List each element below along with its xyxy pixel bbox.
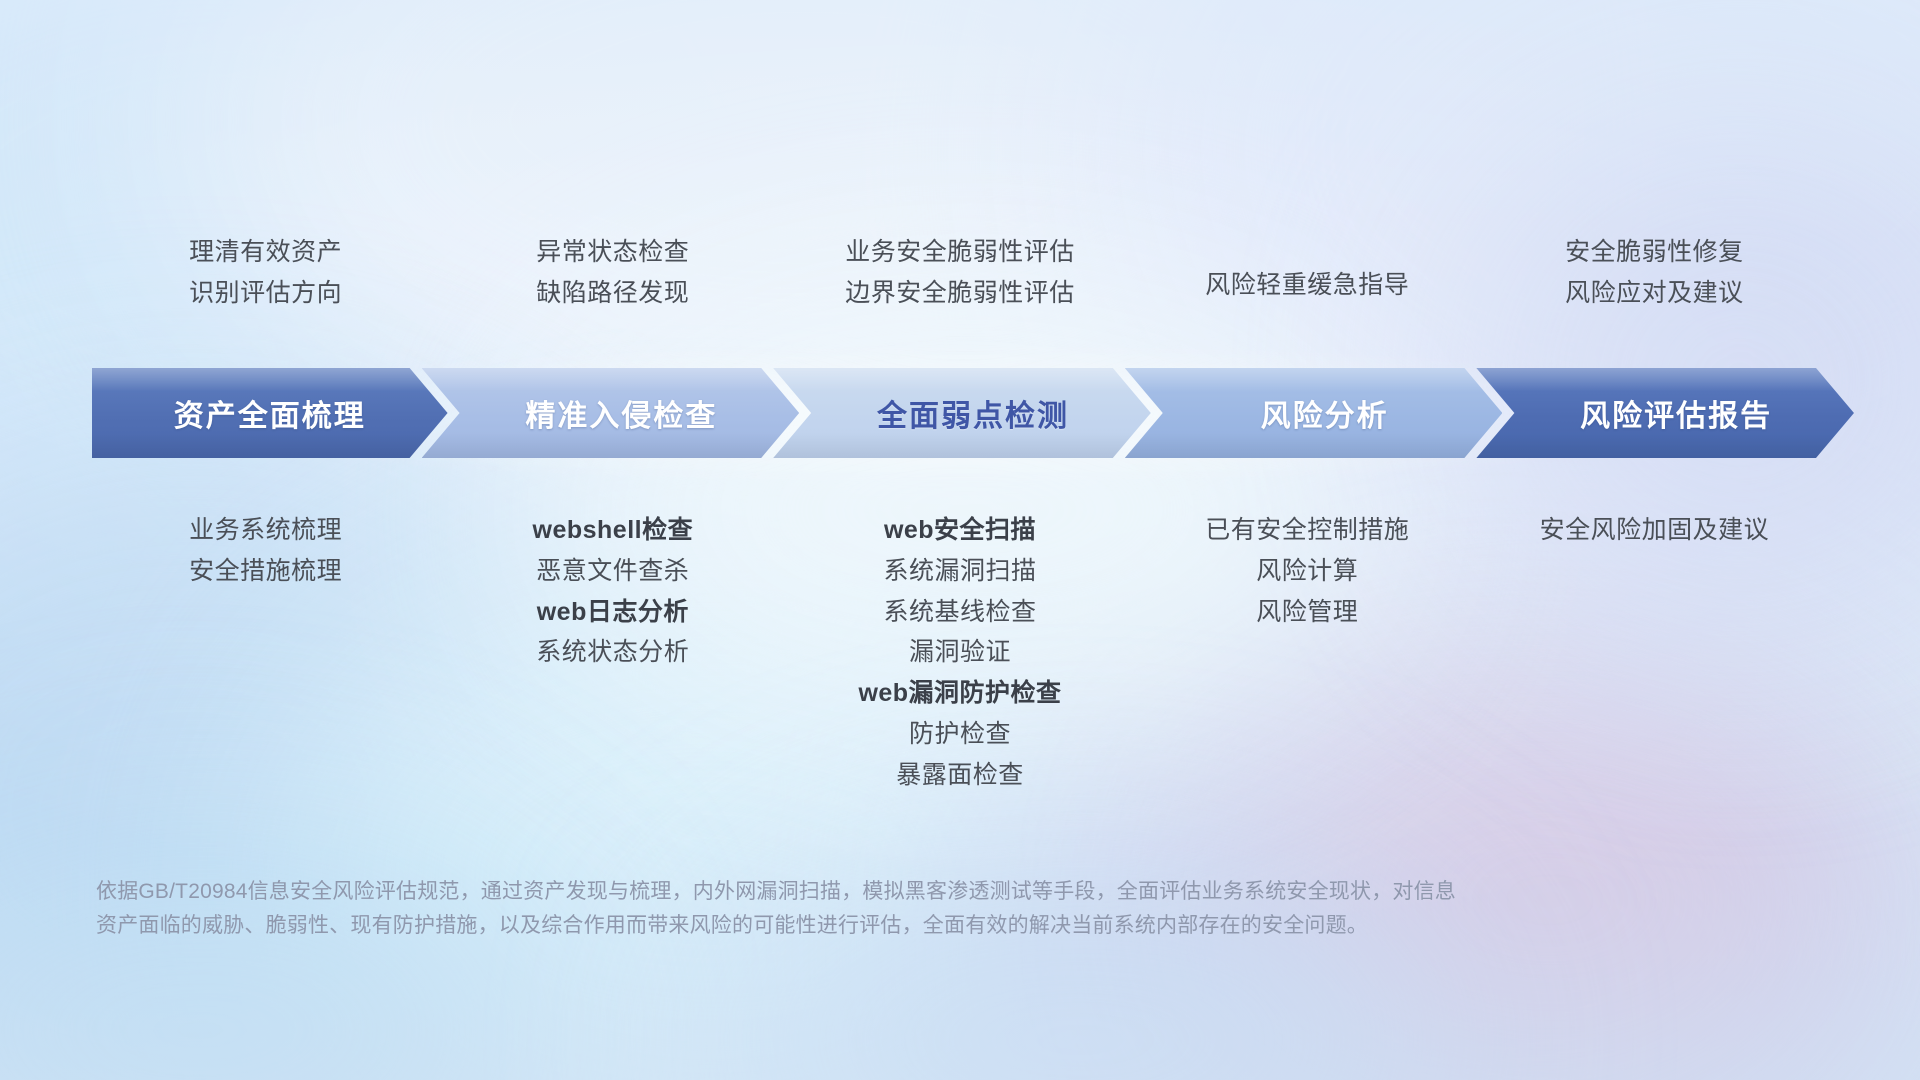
lower-item: 系统状态分析 [536, 632, 689, 673]
upper-item: 业务安全脆弱性评估 [845, 232, 1075, 273]
chevron-stage-1[interactable]: 资产全面梳理 [92, 368, 448, 458]
lower-column-4: 已有安全控制措施 风险计算 风险管理 [1134, 510, 1481, 632]
upper-outcomes-row: 理清有效资产 识别评估方向 异常状态检查 缺陷路径发现 业务安全脆弱性评估 边界… [92, 232, 1828, 314]
chevron-stage-2[interactable]: 精准入侵检查 [422, 368, 800, 458]
footer-line: 依据GB/T20984信息安全风险评估规范，通过资产发现与梳理，内外网漏洞扫描，… [96, 875, 1696, 909]
lower-column-1: 业务系统梳理 安全措施梳理 [92, 510, 439, 592]
upper-item: 理清有效资产 [189, 232, 342, 273]
lower-item: 已有安全控制措施 [1205, 510, 1409, 551]
lower-item: webshell检查 [533, 510, 694, 551]
footer-line: 资产面临的威胁、脆弱性、现有防护措施，以及综合作用而带来风险的可能性进行评估，全… [96, 909, 1696, 943]
upper-item: 安全脆弱性修复 [1565, 232, 1744, 273]
lower-item: 防护检查 [909, 714, 1011, 755]
lower-item: web漏洞防护检查 [858, 673, 1061, 714]
upper-item: 风险应对及建议 [1565, 273, 1744, 314]
chevron-stage-4[interactable]: 风险分析 [1125, 368, 1503, 458]
lower-item: 系统基线检查 [884, 592, 1037, 633]
chevron-stage-3[interactable]: 全面弱点检测 [773, 368, 1151, 458]
lower-column-5: 安全风险加固及建议 [1481, 510, 1828, 551]
upper-item: 边界安全脆弱性评估 [845, 273, 1075, 314]
upper-item: 缺陷路径发现 [536, 273, 689, 314]
upper-column-5: 安全脆弱性修复 风险应对及建议 [1481, 232, 1828, 314]
upper-item: 风险轻重缓急指导 [1205, 265, 1409, 306]
lower-item: web日志分析 [537, 592, 689, 633]
chevron-label: 风险评估报告 [1580, 391, 1772, 435]
lower-item: web安全扫描 [884, 510, 1036, 551]
chevron-label: 全面弱点检测 [877, 391, 1069, 435]
process-chevron-band: 资产全面梳理 精准入侵检查 全面弱点检测 风险分析 风险评估报告 [92, 368, 1828, 458]
chevron-label: 资产全面梳理 [174, 391, 366, 435]
upper-item: 识别评估方向 [189, 273, 342, 314]
lower-column-2: webshell检查 恶意文件查杀 web日志分析 系统状态分析 [439, 510, 786, 673]
footer-description: 依据GB/T20984信息安全风险评估规范，通过资产发现与梳理，内外网漏洞扫描，… [96, 875, 1696, 943]
lower-item: 业务系统梳理 [189, 510, 342, 551]
upper-column-2: 异常状态检查 缺陷路径发现 [439, 232, 786, 314]
upper-item: 异常状态检查 [536, 232, 689, 273]
slide-canvas: 理清有效资产 识别评估方向 异常状态检查 缺陷路径发现 业务安全脆弱性评估 边界… [0, 0, 1920, 1080]
lower-item: 风险管理 [1256, 592, 1358, 633]
chevron-label: 风险分析 [1261, 391, 1389, 435]
lower-item: 恶意文件查杀 [536, 551, 689, 592]
lower-column-3: web安全扫描 系统漏洞扫描 系统基线检查 漏洞验证 web漏洞防护检查 防护检… [786, 510, 1133, 795]
lower-item: 风险计算 [1256, 551, 1358, 592]
lower-item: 安全措施梳理 [189, 551, 342, 592]
lower-item: 漏洞验证 [909, 632, 1011, 673]
upper-column-4: 风险轻重缓急指导 [1134, 232, 1481, 306]
upper-column-1: 理清有效资产 识别评估方向 [92, 232, 439, 314]
lower-item: 安全风险加固及建议 [1540, 510, 1770, 551]
upper-column-3: 业务安全脆弱性评估 边界安全脆弱性评估 [786, 232, 1133, 314]
lower-item: 系统漏洞扫描 [884, 551, 1037, 592]
lower-activities-row: 业务系统梳理 安全措施梳理 webshell检查 恶意文件查杀 web日志分析 … [92, 510, 1828, 795]
chevron-stage-5[interactable]: 风险评估报告 [1476, 368, 1854, 458]
lower-item: 暴露面检查 [896, 755, 1024, 796]
chevron-label: 精准入侵检查 [525, 391, 717, 435]
